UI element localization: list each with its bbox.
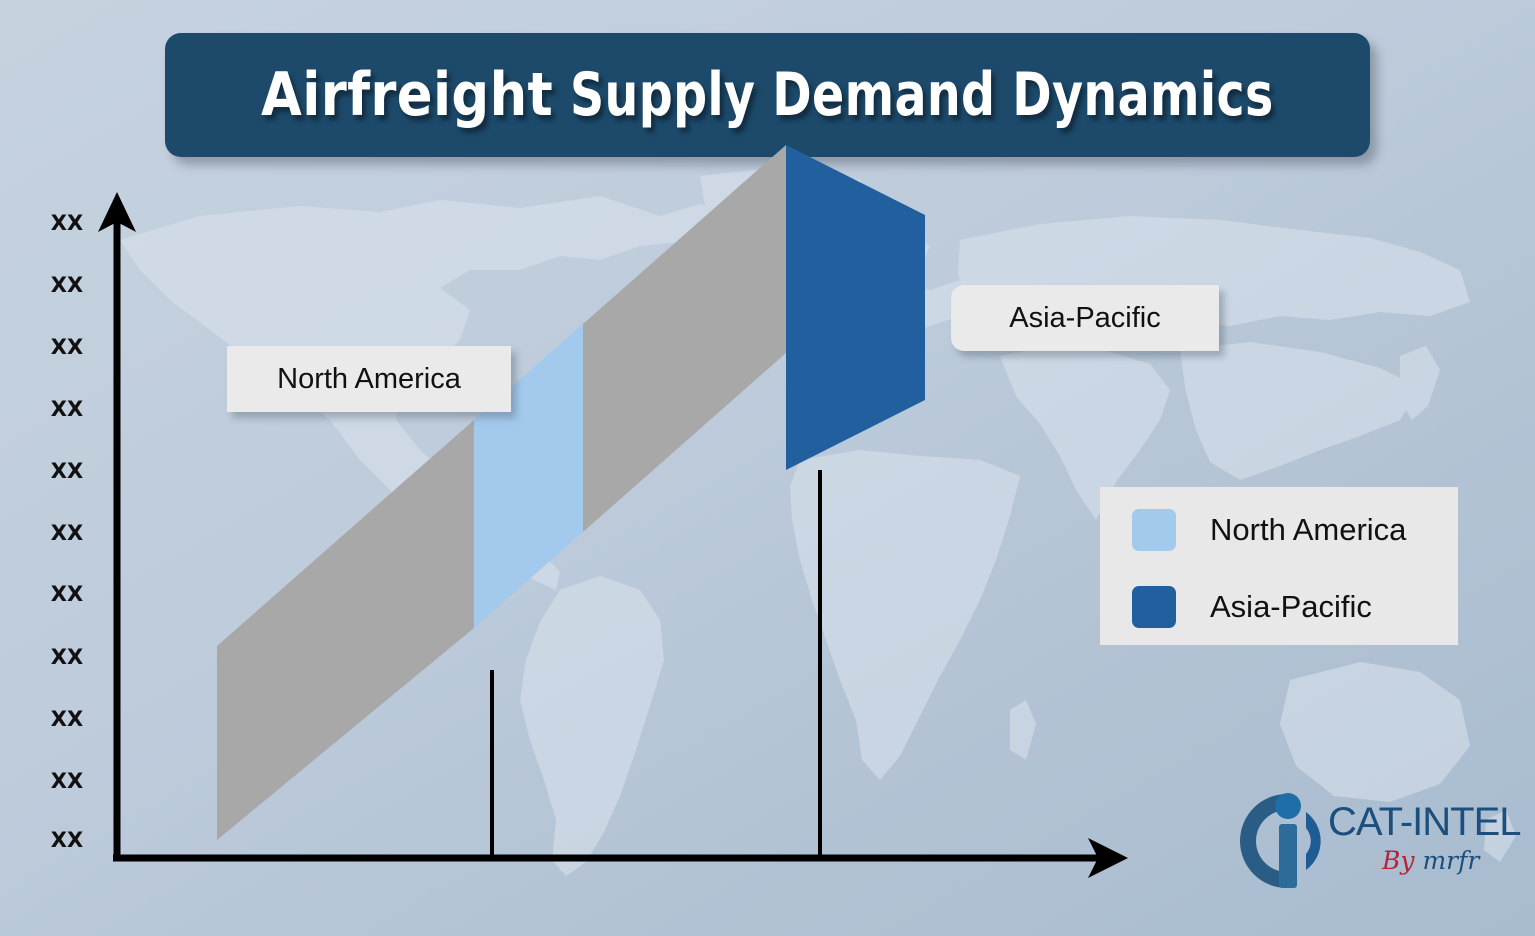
callout-asia-pacific-label: Asia-Pacific <box>1009 302 1161 335</box>
chart-title-banner: Airfreight Supply Demand Dynamics <box>165 33 1370 157</box>
logo-tagline-brand: mrfr <box>1422 846 1479 875</box>
y-tick-label-3: XX <box>44 645 90 669</box>
y-tick-label-10: XX <box>44 211 90 235</box>
y-tick-label-1: XX <box>44 769 90 793</box>
y-tick-label-7: XX <box>44 397 90 421</box>
callout-asia-pacific: Asia-Pacific <box>951 285 1219 351</box>
page-title: Airfreight Supply Demand Dynamics <box>261 60 1274 130</box>
arrow-right-icon <box>1088 838 1128 878</box>
callout-north-america-label: North America <box>277 363 461 396</box>
arrow-up-icon <box>98 192 136 232</box>
callout-north-america: North America <box>227 346 511 412</box>
band-segment-other-right <box>583 145 786 532</box>
legend-swatch-asia-pacific <box>1132 586 1176 628</box>
legend-swatch-north-america <box>1132 509 1176 551</box>
band-overlay-correction <box>786 145 925 470</box>
y-tick-label-4: XX <box>44 582 90 606</box>
logo-tagline-by: By <box>1382 846 1422 875</box>
chart-legend: North America Asia-Pacific <box>1100 487 1458 645</box>
y-tick-label-0: XX <box>44 828 90 852</box>
legend-label-asia-pacific: Asia-Pacific <box>1210 589 1372 625</box>
chart-canvas: Airfreight Supply Demand Dynamics XX XX … <box>0 0 1535 936</box>
y-tick-label-9: XX <box>44 273 90 297</box>
y-tick-label-5: XX <box>44 521 90 545</box>
legend-label-north-america: North America <box>1210 512 1406 548</box>
logo-wordmark: CAT-INTEL <box>1328 800 1521 845</box>
logo-tagline: By mrfr <box>1382 846 1479 875</box>
y-tick-label-6: XX <box>44 459 90 483</box>
legend-item-asia-pacific[interactable]: Asia-Pacific <box>1132 586 1372 628</box>
y-tick-label-8: XX <box>44 335 90 359</box>
legend-item-north-america[interactable]: North America <box>1132 509 1406 551</box>
title-lead: Airfreight <box>261 60 553 130</box>
brand-logo: CAT-INTEL By mrfr <box>1232 778 1522 918</box>
ci-monogram-icon <box>1232 786 1342 896</box>
y-tick-label-2: XX <box>44 707 90 731</box>
band-segment-asia-pacific <box>786 145 925 470</box>
supply-demand-band <box>217 145 925 840</box>
title-rest: Supply Demand Dynamics <box>553 60 1273 130</box>
band-segment-other-left <box>217 420 474 840</box>
